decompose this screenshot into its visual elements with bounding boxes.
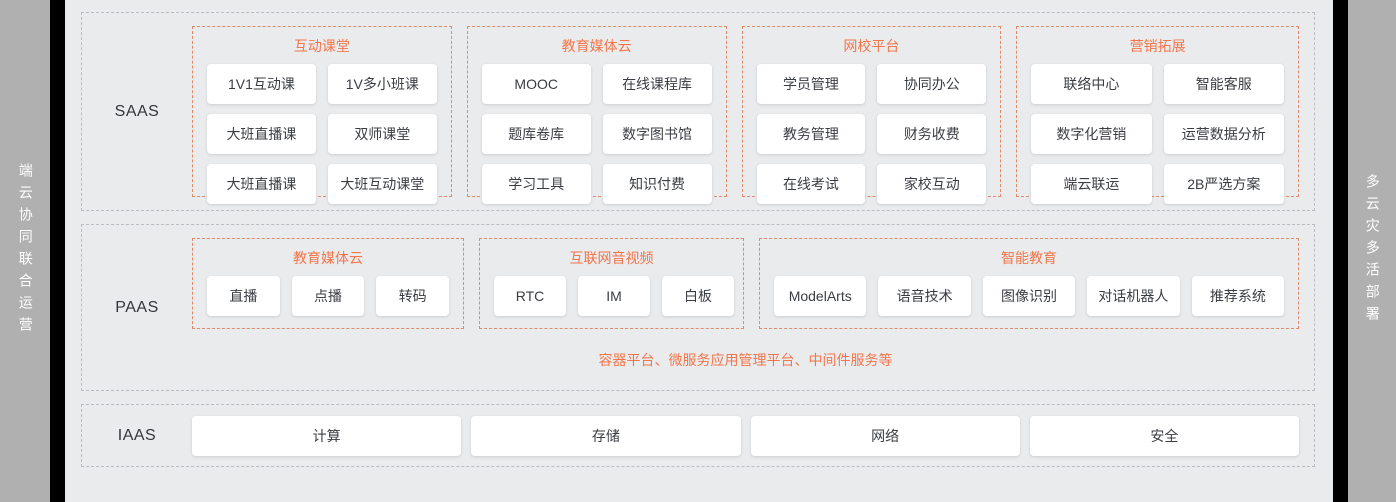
- tile[interactable]: 大班直播课: [207, 164, 316, 204]
- tile-grid: MOOC 在线课程库 题库卷库 数字图书馆 学习工具 知识付费: [482, 64, 712, 204]
- layer-iaas-body: 计算 存储 网络 安全: [192, 405, 1314, 466]
- left-rail: 端云协同联合运营: [0, 0, 50, 502]
- group-paas-2: 智能教育 ModelArts 语音技术 图像识别 对话机器人 推荐系统: [759, 238, 1299, 329]
- layer-stack: SAAS 互动课堂 1V1互动课 1V多小班课 大班直播课 双师课堂 大班直播课…: [65, 0, 1333, 502]
- tile[interactable]: 1V1互动课: [207, 64, 316, 104]
- group-title: 营销拓展: [1031, 33, 1284, 64]
- layer-paas-body: 教育媒体云 直播 点播 转码 互联网音视频 RTC IM 白板: [192, 225, 1314, 390]
- group-saas-2: 网校平台 学员管理 协同办公 教务管理 财务收费 在线考试 家校互动: [742, 26, 1002, 197]
- tile-grid: RTC IM 白板: [494, 276, 729, 316]
- group-title: 教育媒体云: [482, 33, 712, 64]
- group-title: 互联网音视频: [494, 245, 729, 276]
- tile[interactable]: 教务管理: [757, 114, 866, 154]
- tile[interactable]: 计算: [192, 416, 461, 456]
- tile[interactable]: 题库卷库: [482, 114, 591, 154]
- tile[interactable]: 推荐系统: [1192, 276, 1284, 316]
- layer-label-iaas: IAAS: [82, 405, 192, 466]
- architecture-diagram: 端云协同联合运营 SAAS 互动课堂 1V1互动课 1V多小班课 大班直播课 双…: [0, 0, 1396, 502]
- right-rail-label: 多云灾多活部署: [1364, 174, 1379, 328]
- tile[interactable]: 转码: [376, 276, 449, 316]
- tile[interactable]: 对话机器人: [1087, 276, 1179, 316]
- tile-grid: 1V1互动课 1V多小班课 大班直播课 双师课堂 大班直播课 大班互动课堂: [207, 64, 437, 204]
- paas-group-row: 教育媒体云 直播 点播 转码 互联网音视频 RTC IM 白板: [192, 225, 1314, 329]
- tile[interactable]: 在线考试: [757, 164, 866, 204]
- group-paas-1: 互联网音视频 RTC IM 白板: [479, 238, 744, 329]
- tile-grid: 联络中心 智能客服 数字化营销 运营数据分析 端云联运 2B严选方案: [1031, 64, 1284, 204]
- tile[interactable]: IM: [578, 276, 650, 316]
- tile[interactable]: 运营数据分析: [1164, 114, 1284, 154]
- tile[interactable]: 学习工具: [482, 164, 591, 204]
- tile[interactable]: 白板: [662, 276, 734, 316]
- tile[interactable]: 数字化营销: [1031, 114, 1151, 154]
- group-paas-0: 教育媒体云 直播 点播 转码: [192, 238, 464, 329]
- tile[interactable]: 财务收费: [877, 114, 986, 154]
- left-black-divider: [50, 0, 65, 502]
- layer-saas: SAAS 互动课堂 1V1互动课 1V多小班课 大班直播课 双师课堂 大班直播课…: [81, 12, 1315, 211]
- tile[interactable]: 点播: [292, 276, 365, 316]
- layer-saas-body: 互动课堂 1V1互动课 1V多小班课 大班直播课 双师课堂 大班直播课 大班互动…: [192, 13, 1314, 210]
- right-rail: 多云灾多活部署: [1348, 0, 1396, 502]
- tile[interactable]: 知识付费: [603, 164, 712, 204]
- tile[interactable]: 大班互动课堂: [328, 164, 437, 204]
- tile[interactable]: 2B严选方案: [1164, 164, 1284, 204]
- tile[interactable]: 数字图书馆: [603, 114, 712, 154]
- right-black-divider: [1333, 0, 1348, 502]
- layer-label-saas: SAAS: [82, 13, 192, 210]
- group-title: 教育媒体云: [207, 245, 449, 276]
- tile[interactable]: 直播: [207, 276, 280, 316]
- tile[interactable]: 网络: [751, 416, 1020, 456]
- tile[interactable]: 智能客服: [1164, 64, 1284, 104]
- layer-label-paas: PAAS: [82, 225, 192, 390]
- tile[interactable]: 存储: [471, 416, 740, 456]
- tile[interactable]: 联络中心: [1031, 64, 1151, 104]
- tile[interactable]: MOOC: [482, 64, 591, 104]
- left-rail-label: 端云协同联合运营: [17, 163, 32, 339]
- tile[interactable]: ModelArts: [774, 276, 866, 316]
- group-saas-3: 营销拓展 联络中心 智能客服 数字化营销 运营数据分析 端云联运 2B严选方案: [1016, 26, 1299, 197]
- tile-grid: 学员管理 协同办公 教务管理 财务收费 在线考试 家校互动: [757, 64, 987, 204]
- tile[interactable]: 图像识别: [983, 276, 1075, 316]
- tile[interactable]: 双师课堂: [328, 114, 437, 154]
- tile[interactable]: 学员管理: [757, 64, 866, 104]
- tile[interactable]: 1V多小班课: [328, 64, 437, 104]
- tile[interactable]: 家校互动: [877, 164, 986, 204]
- tile[interactable]: 协同办公: [877, 64, 986, 104]
- group-title: 互动课堂: [207, 33, 437, 64]
- tile-grid: 直播 点播 转码: [207, 276, 449, 316]
- group-saas-0: 互动课堂 1V1互动课 1V多小班课 大班直播课 双师课堂 大班直播课 大班互动…: [192, 26, 452, 197]
- group-title: 网校平台: [757, 33, 987, 64]
- group-title: 智能教育: [774, 245, 1284, 276]
- tile[interactable]: RTC: [494, 276, 566, 316]
- paas-footnote: 容器平台、微服务应用管理平台、中间件服务等: [192, 329, 1314, 390]
- tile[interactable]: 安全: [1030, 416, 1299, 456]
- tile-grid: ModelArts 语音技术 图像识别 对话机器人 推荐系统: [774, 276, 1284, 316]
- tile[interactable]: 端云联运: [1031, 164, 1151, 204]
- tile[interactable]: 大班直播课: [207, 114, 316, 154]
- group-saas-1: 教育媒体云 MOOC 在线课程库 题库卷库 数字图书馆 学习工具 知识付费: [467, 26, 727, 197]
- layer-iaas: IAAS 计算 存储 网络 安全: [81, 404, 1315, 467]
- tile[interactable]: 在线课程库: [603, 64, 712, 104]
- tile[interactable]: 语音技术: [878, 276, 970, 316]
- layer-paas: PAAS 教育媒体云 直播 点播 转码 互联网音视频 RT: [81, 224, 1315, 391]
